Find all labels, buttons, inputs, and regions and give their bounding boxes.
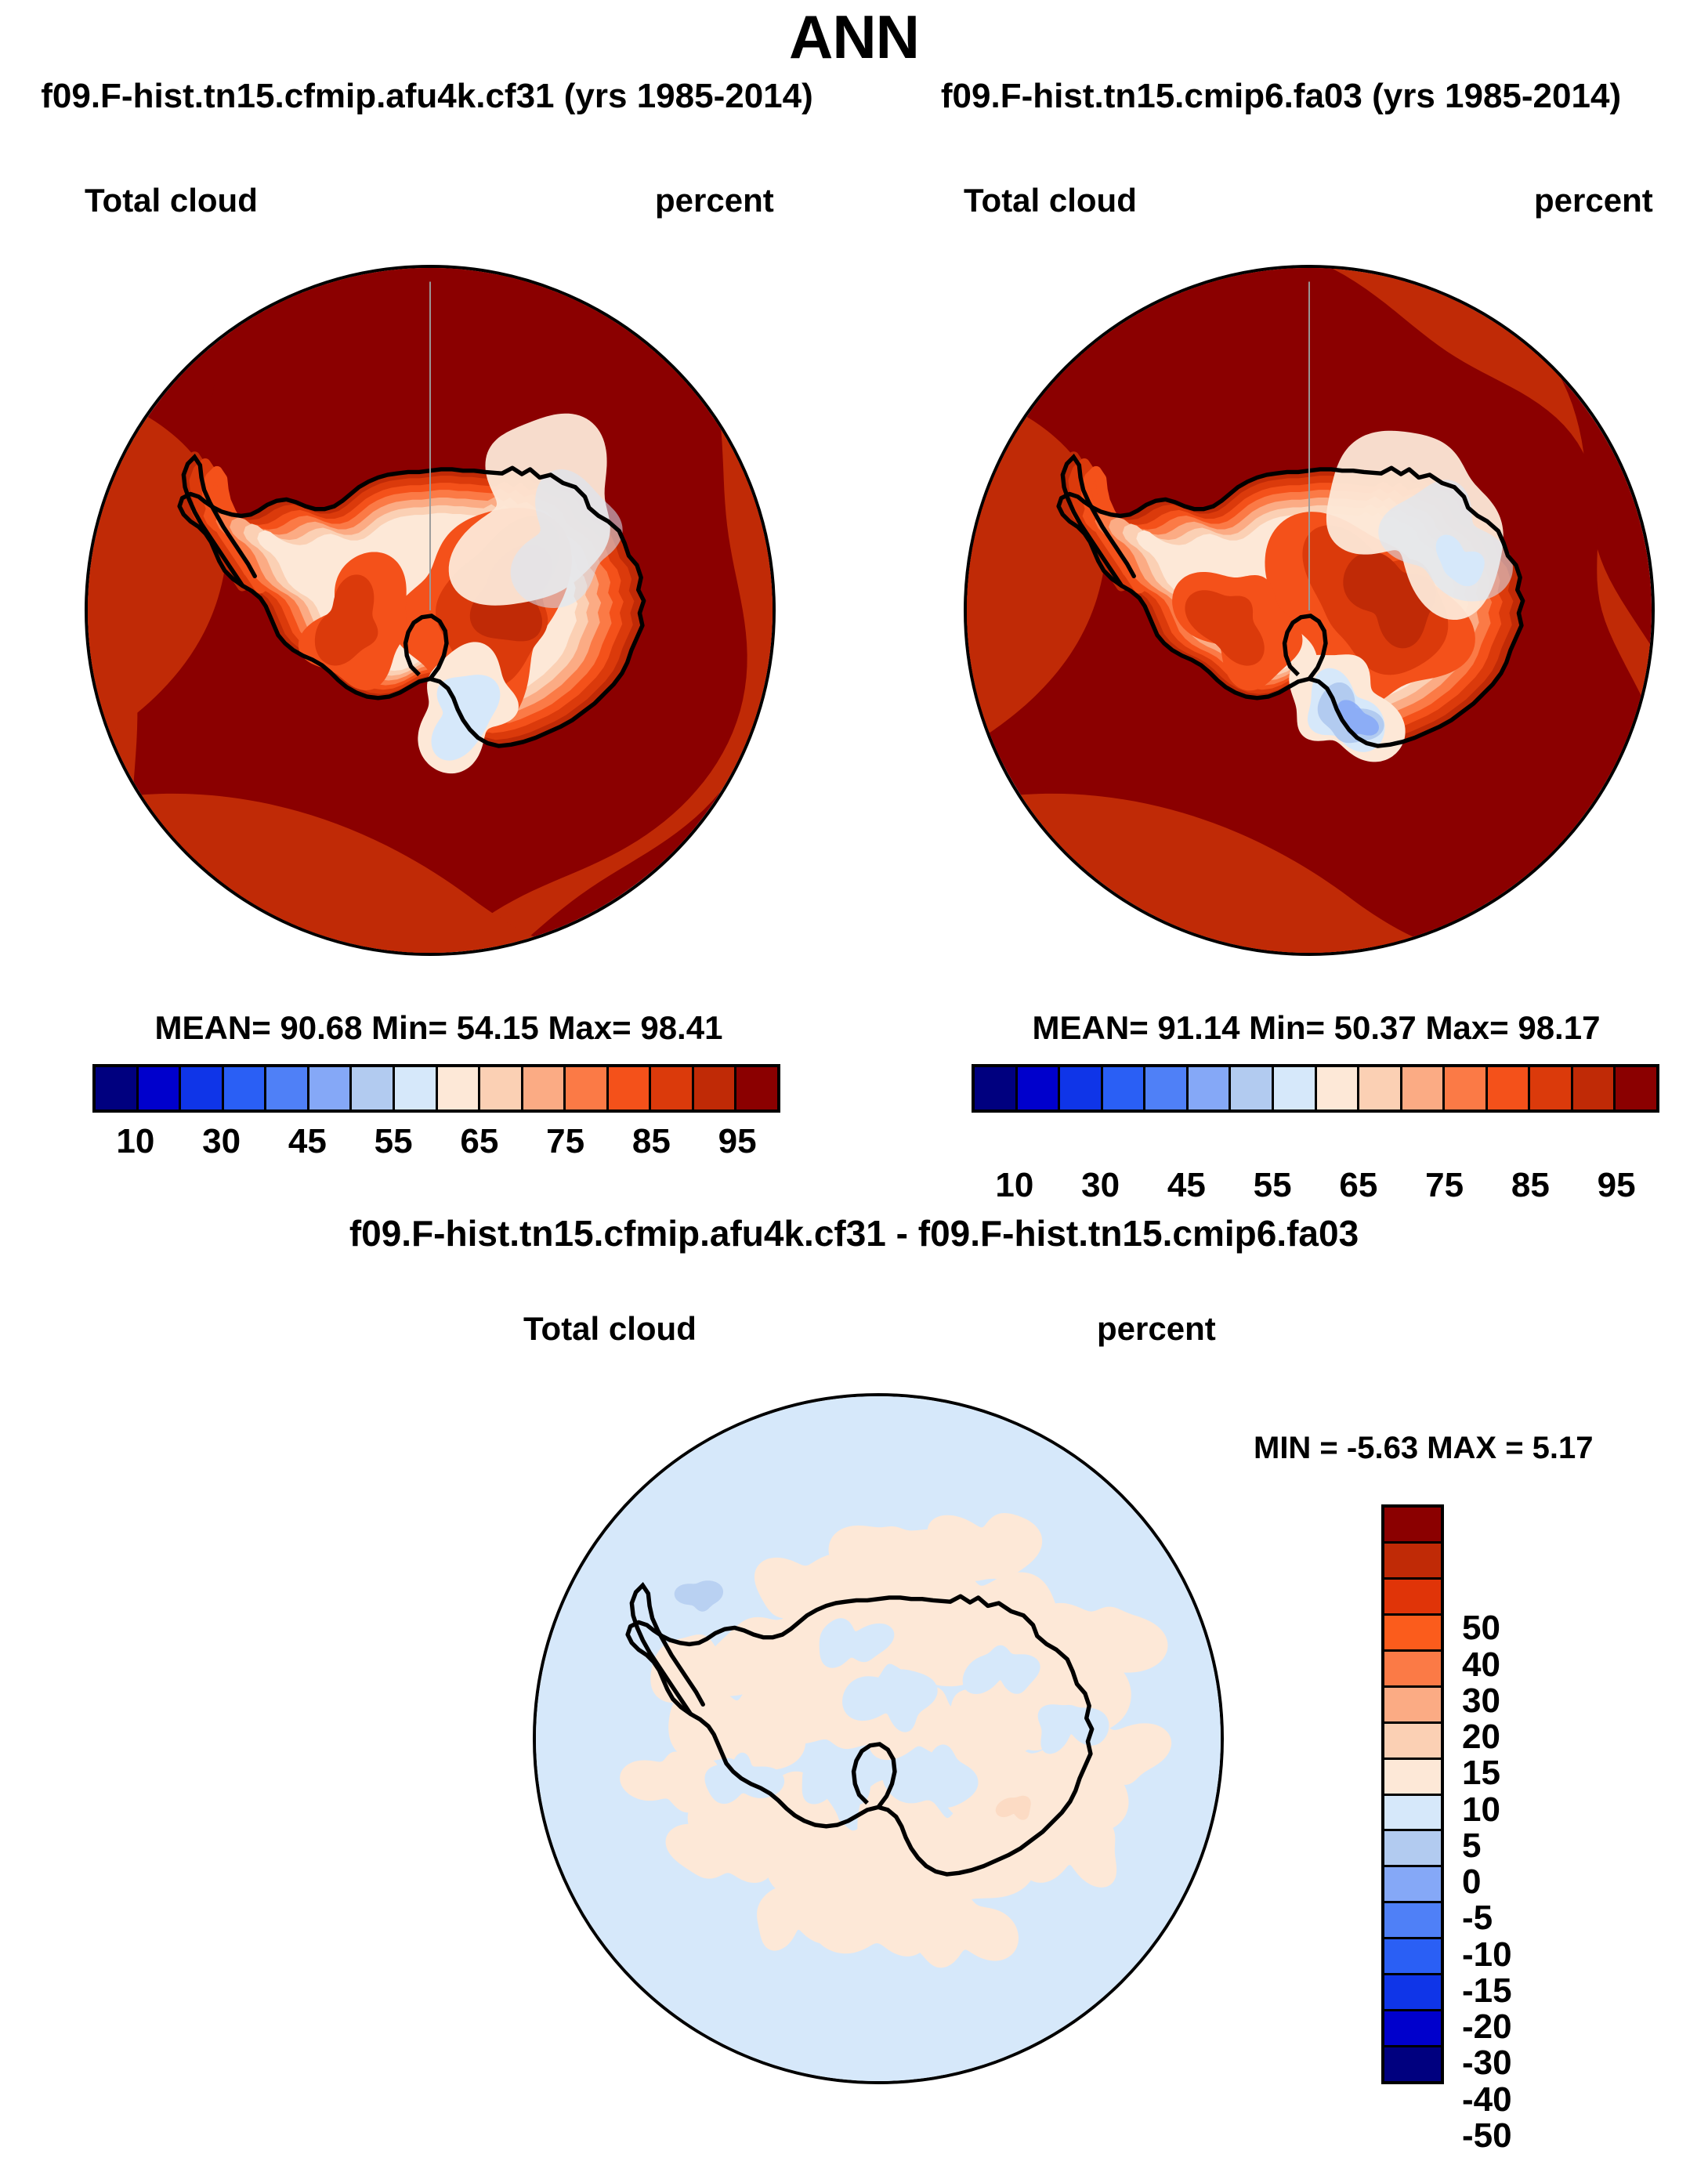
colorbar-cell-7 [395, 1067, 438, 1110]
colorbar-tick-85: 85 [1511, 1166, 1550, 1205]
colorbar-right-ticks: 1030455565758595 [972, 1166, 1659, 1210]
map-left-cfmip-afu4k[interactable] [85, 265, 776, 956]
colorbar-tick-45: 45 [288, 1122, 327, 1161]
colorbar-left[interactable] [92, 1064, 780, 1113]
diff-colorbar-tick-neg50: -50 [1462, 2116, 1512, 2156]
right-units-label: percent [1534, 182, 1653, 219]
colorbar-cell-14 [1573, 1067, 1616, 1110]
colorbar-cell-4 [266, 1067, 309, 1110]
diff-colorbar-cell-14 [1384, 2011, 1441, 2047]
colorbar-cell-11 [566, 1067, 609, 1110]
colorbar-tick-85: 85 [632, 1122, 671, 1161]
map-difference[interactable] [533, 1393, 1224, 2084]
colorbar-cell-12 [609, 1067, 652, 1110]
colorbar-tick-75: 75 [546, 1122, 584, 1161]
colorbar-left-ticks: 1030455565758595 [92, 1122, 780, 1166]
colorbar-cell-0 [96, 1067, 139, 1110]
diff-colorbar-tick-50: 50 [1462, 1609, 1500, 1648]
colorbar-tick-10: 10 [116, 1122, 154, 1161]
diff-colorbar-tick-neg30: -30 [1462, 2043, 1512, 2083]
diff-case-title: f09.F-hist.tn15.cfmip.afu4k.cf31 - f09.F… [0, 1212, 1708, 1254]
colorbar-tick-55: 55 [1254, 1166, 1292, 1205]
colorbar-tick-65: 65 [460, 1122, 498, 1161]
colorbar-cell-10 [523, 1067, 566, 1110]
colorbar-cell-15 [736, 1067, 777, 1110]
diff-colorbar-tick-15: 15 [1462, 1754, 1500, 1793]
diff-minmax-line: MIN = -5.63 MAX = 5.17 [1254, 1431, 1594, 1466]
colorbar-cell-4 [1145, 1067, 1189, 1110]
colorbar-cell-2 [1060, 1067, 1103, 1110]
colorbar-cell-9 [480, 1067, 523, 1110]
case-title-right: f09.F-hist.tn15.cmip6.fa03 (yrs 1985-201… [854, 77, 1708, 116]
diff-colorbar-cell-5 [1384, 1688, 1441, 1724]
map-contour-field [967, 268, 1652, 953]
colorbar-cell-1 [1018, 1067, 1061, 1110]
colorbar-cell-12 [1488, 1067, 1531, 1110]
colorbar-cell-9 [1359, 1067, 1402, 1110]
colorbar-cell-0 [975, 1067, 1018, 1110]
diff-colorbar-tick-neg10: -10 [1462, 1935, 1512, 1975]
diff-colorbar-tick-10: 10 [1462, 1790, 1500, 1830]
colorbar-tick-30: 30 [202, 1122, 241, 1161]
diff-colorbar-tick-neg5: -5 [1462, 1899, 1493, 1938]
diff-colorbar-tick-neg15: -15 [1462, 1971, 1512, 2011]
colorbar-cell-15 [1616, 1067, 1656, 1110]
diff-colorbar-tick-30: 30 [1462, 1681, 1500, 1721]
colorbar-right[interactable] [972, 1064, 1659, 1113]
colorbar-cell-3 [224, 1067, 267, 1110]
diff-colorbar-cell-7 [1384, 1760, 1441, 1796]
diff-colorbar-tick-neg20: -20 [1462, 2007, 1512, 2047]
main-title: ANN [0, 2, 1708, 73]
colorbar-tick-55: 55 [375, 1122, 413, 1161]
left-variable-label: Total cloud [85, 182, 258, 219]
colorbar-cell-5 [1189, 1067, 1232, 1110]
right-variable-label: Total cloud [964, 182, 1137, 219]
diff-colorbar-tick-5: 5 [1462, 1826, 1481, 1866]
left-stats-line: MEAN= 90.68 Min= 54.15 Max= 98.41 [47, 1009, 830, 1047]
colorbar-difference-ticks: 50403020151050-5-10-15-20-30-40-50 [1462, 1592, 1619, 2172]
diff-colorbar-tick-20: 20 [1462, 1718, 1500, 1757]
colorbar-difference[interactable] [1381, 1504, 1444, 2084]
colorbar-cell-8 [438, 1067, 481, 1110]
colorbar-cell-1 [139, 1067, 182, 1110]
colorbar-tick-75: 75 [1425, 1166, 1464, 1205]
colorbar-cell-8 [1317, 1067, 1360, 1110]
colorbar-cell-13 [1530, 1067, 1573, 1110]
diff-colorbar-cell-8 [1384, 1796, 1441, 1832]
diff-colorbar-cell-2 [1384, 1580, 1441, 1616]
colorbar-tick-95: 95 [718, 1122, 757, 1161]
diff-colorbar-cell-0 [1384, 1508, 1441, 1544]
diff-colorbar-cell-13 [1384, 1975, 1441, 2011]
diff-colorbar-tick-0: 0 [1462, 1862, 1481, 1902]
colorbar-tick-65: 65 [1339, 1166, 1377, 1205]
colorbar-cell-5 [309, 1067, 353, 1110]
case-title-left: f09.F-hist.tn15.cfmip.afu4k.cf31 (yrs 19… [0, 77, 854, 116]
map-right-cmip6-fa03[interactable] [964, 265, 1655, 956]
diff-colorbar-cell-12 [1384, 1939, 1441, 1975]
diff-colorbar-cell-9 [1384, 1831, 1441, 1867]
diff-colorbar-cell-6 [1384, 1724, 1441, 1760]
diff-colorbar-cell-4 [1384, 1652, 1441, 1688]
diff-colorbar-cell-1 [1384, 1544, 1441, 1580]
diff-colorbar-cell-11 [1384, 1903, 1441, 1939]
diff-colorbar-cell-10 [1384, 1867, 1441, 1903]
right-stats-line: MEAN= 91.14 Min= 50.37 Max= 98.17 [925, 1009, 1708, 1047]
colorbar-cell-10 [1402, 1067, 1446, 1110]
colorbar-cell-3 [1103, 1067, 1146, 1110]
colorbar-cell-14 [694, 1067, 737, 1110]
colorbar-cell-6 [1231, 1067, 1274, 1110]
map-difference-field [536, 1396, 1221, 2081]
diff-variable-label: Total cloud [523, 1310, 697, 1348]
colorbar-tick-10: 10 [995, 1166, 1033, 1205]
colorbar-tick-45: 45 [1167, 1166, 1206, 1205]
colorbar-cell-7 [1274, 1067, 1317, 1110]
colorbar-tick-30: 30 [1081, 1166, 1120, 1205]
colorbar-cell-6 [352, 1067, 395, 1110]
diff-colorbar-tick-neg40: -40 [1462, 2080, 1512, 2120]
diff-colorbar-cell-15 [1384, 2047, 1441, 2081]
diff-colorbar-tick-40: 40 [1462, 1645, 1500, 1685]
colorbar-cell-11 [1445, 1067, 1488, 1110]
diff-units-label: percent [1097, 1310, 1216, 1348]
map-contour-field [88, 268, 773, 953]
colorbar-tick-95: 95 [1598, 1166, 1636, 1205]
colorbar-cell-2 [181, 1067, 224, 1110]
colorbar-cell-13 [651, 1067, 694, 1110]
diff-colorbar-cell-3 [1384, 1616, 1441, 1652]
left-units-label: percent [655, 182, 774, 219]
